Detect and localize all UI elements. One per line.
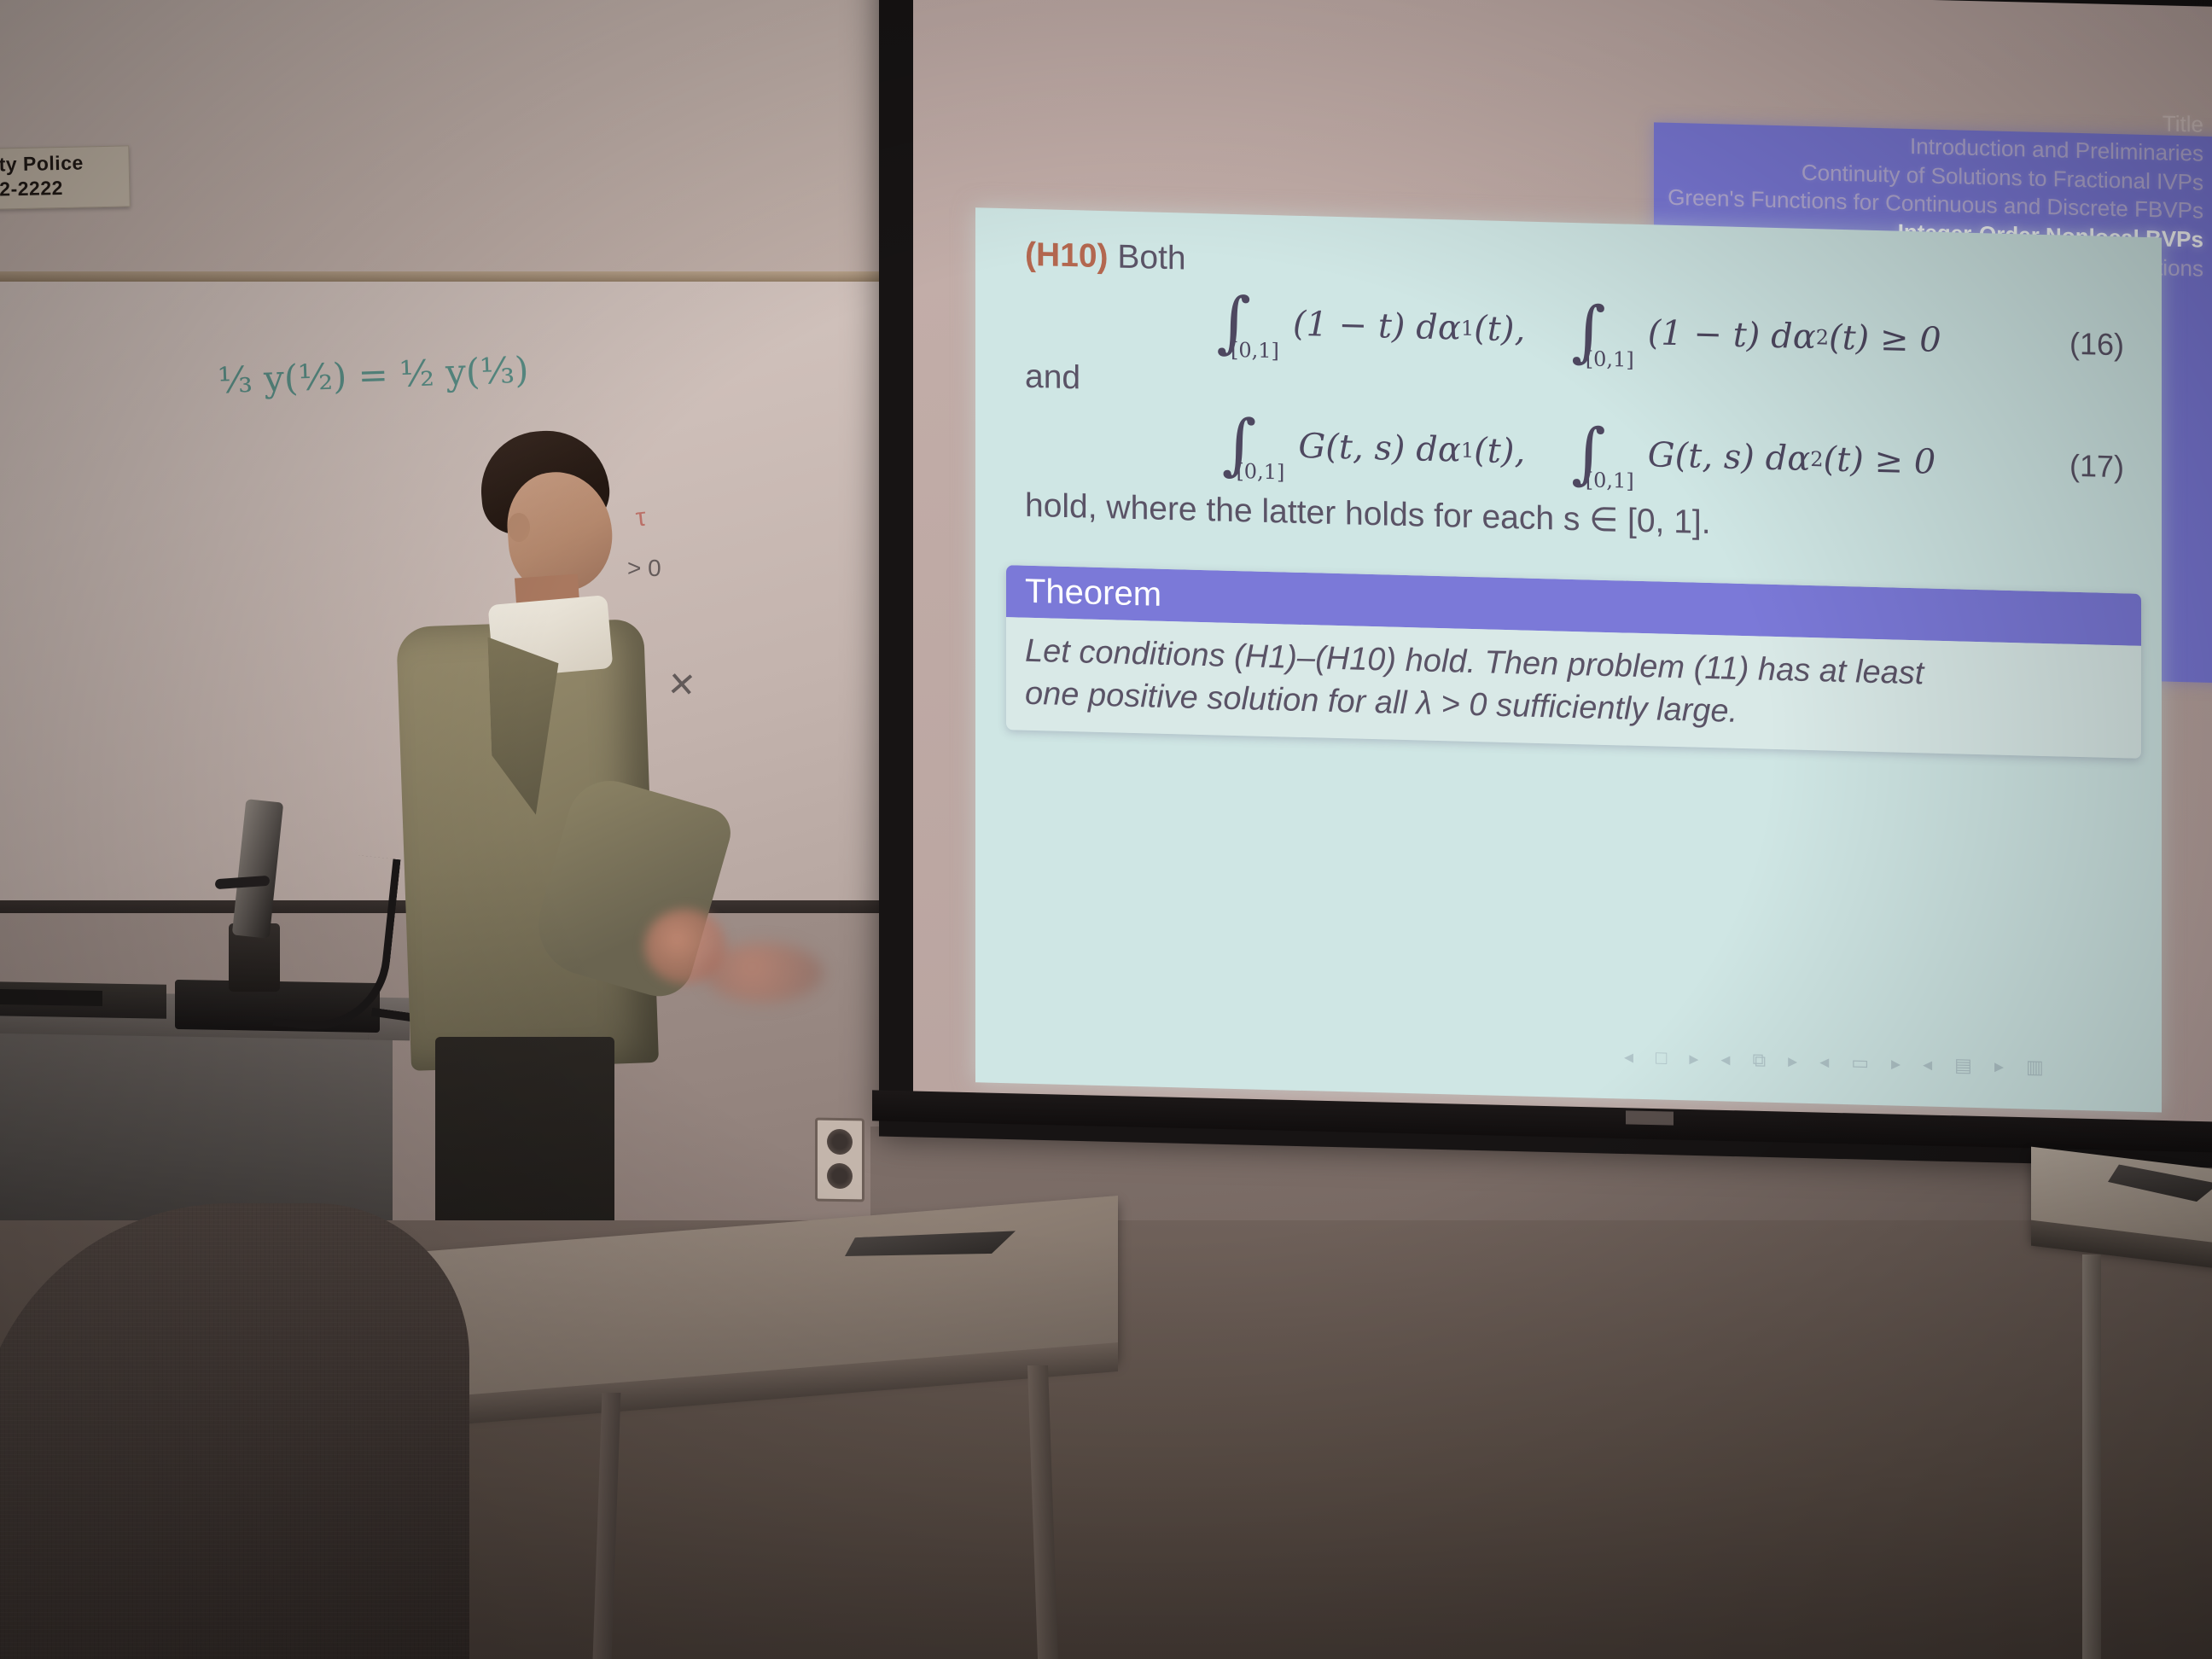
nav-back-icon[interactable]: ▥ xyxy=(2026,1056,2044,1079)
alpha-subscript: 1 xyxy=(1461,438,1474,462)
presenter-ear xyxy=(508,513,530,542)
wall-sign: ty Police 2-2222 xyxy=(0,145,131,209)
nav-prev-section-icon[interactable]: ◂ xyxy=(1819,1051,1829,1073)
integrand: G(t, s) dα xyxy=(1298,427,1461,470)
equation-16-left: ∫[0,1](1 − t) dα1(t), xyxy=(1216,297,1525,355)
equation-17-left: ∫[0,1]G(t, s) dα1(t), xyxy=(1222,419,1525,476)
audience-chair xyxy=(0,1203,469,1659)
condition-tag: (H10) xyxy=(1025,236,1109,275)
integral-limits: [0,1] xyxy=(1586,346,1634,371)
nav-section-icon[interactable]: ▭ xyxy=(1851,1051,1869,1074)
side-table-leg xyxy=(2082,1254,2101,1659)
projection-screen-label-plate xyxy=(1626,1110,1674,1125)
outlet-socket-bottom xyxy=(827,1163,853,1190)
nav-frame-icon[interactable]: ⧉ xyxy=(1752,1049,1766,1071)
nav-next-frame-icon[interactable]: ▸ xyxy=(1788,1050,1797,1072)
outlet-socket-top xyxy=(827,1129,853,1155)
integral-argument: (t) ≥ 0 xyxy=(1829,318,1941,360)
nav-prev-frame-icon[interactable]: ◂ xyxy=(1720,1048,1730,1070)
av-device xyxy=(0,989,102,1006)
wall-sign-line1: ty Police xyxy=(0,149,124,177)
lecture-room-photo: ty Police 2-2222 ⅓ y(½) = ½ y(⅓) τ > 0 ✕… xyxy=(0,0,2212,1659)
condition-line: (H10) Both xyxy=(1025,236,2133,302)
hold-condition-line: hold, where the latter holds for each s … xyxy=(1025,486,2133,553)
integrand: (1 − t) dα xyxy=(1648,313,1816,357)
integrand: G(t, s) dα xyxy=(1648,435,1811,479)
beamer-navigation-bar[interactable]: ◂ □ ▸ ◂ ⧉ ▸ ◂ ▭ ▸ ◂ ▤ ▸ ▥ xyxy=(1624,1046,2044,1079)
nav-next-slide-icon[interactable]: ▸ xyxy=(1689,1047,1698,1069)
equation-16-right: ∫[0,1](1 − t) dα2(t) ≥ 0 xyxy=(1571,306,1941,365)
alpha-subscript: 2 xyxy=(1816,325,1829,349)
equation-16-row: ∫[0,1](1 − t) dα1(t), ∫[0,1](1 − t) dα2(… xyxy=(1025,293,2133,370)
integral-argument: (t), xyxy=(1474,431,1525,472)
projected-slide: Title Introduction and Preliminaries Con… xyxy=(997,80,2212,1114)
integral-limits: [0,1] xyxy=(1236,459,1284,484)
presenter-hand-motion-blur xyxy=(704,943,824,1003)
equation-number-16: (16) xyxy=(2069,326,2124,364)
alpha-subscript: 2 xyxy=(1810,447,1823,471)
equation-17-row: ∫[0,1]G(t, s) dα1(t), ∫[0,1]G(t, s) dα2(… xyxy=(1025,414,2133,492)
nav-next-doc-icon[interactable]: ▸ xyxy=(1994,1055,2004,1077)
integral-argument: (t), xyxy=(1474,309,1525,350)
wall-upper xyxy=(0,0,913,282)
integrand: (1 − t) dα xyxy=(1293,305,1461,348)
integral-limits: [0,1] xyxy=(1231,337,1279,362)
chair-fabric-texture xyxy=(0,1203,469,1659)
theorem-block: Theorem Let conditions (H1)–(H10) hold. … xyxy=(1006,565,2141,759)
nav-prev-slide-icon[interactable]: ◂ xyxy=(1624,1046,1633,1068)
integral-limits: [0,1] xyxy=(1586,468,1634,492)
equation-17-right: ∫[0,1]G(t, s) dα2(t) ≥ 0 xyxy=(1571,428,1935,486)
nav-slide-icon[interactable]: □ xyxy=(1656,1046,1667,1068)
nav-next-section-icon[interactable]: ▸ xyxy=(1891,1052,1901,1074)
condition-text: Both xyxy=(1109,238,1186,276)
slide-body: (H10) Both ∫[0,1](1 − t) dα1(t), ∫[0,1](… xyxy=(975,207,2162,1112)
alpha-subscript: 1 xyxy=(1461,317,1474,341)
presenter xyxy=(388,431,747,1344)
nav-doc-icon[interactable]: ▤ xyxy=(1954,1054,1972,1077)
integral-argument: (t) ≥ 0 xyxy=(1824,439,1936,481)
equation-number-17: (17) xyxy=(2069,447,2124,485)
wall-outlet xyxy=(815,1117,864,1202)
wall-sign-line2: 2-2222 xyxy=(0,174,125,201)
nav-prev-doc-icon[interactable]: ◂ xyxy=(1923,1053,1932,1075)
